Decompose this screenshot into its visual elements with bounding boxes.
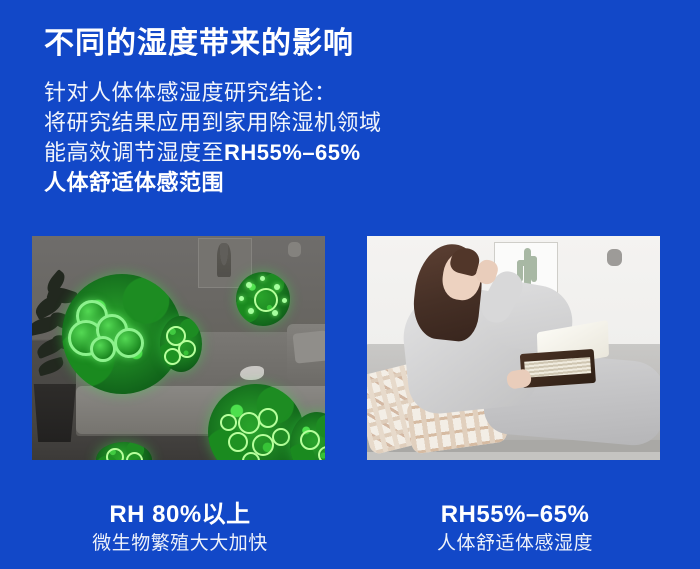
- caption-left: RH 80%以上 微生物繁殖大大加快: [30, 500, 330, 558]
- microbe-dot: [282, 298, 287, 303]
- body-line-3-prefix: 能高效调节湿度至: [44, 140, 224, 165]
- microbe-ring: [318, 446, 325, 460]
- wall-speaker-dark: [288, 242, 301, 257]
- decor-bird: [240, 366, 264, 380]
- comfort-room-photo: [367, 236, 660, 460]
- microbe-dot: [239, 296, 244, 301]
- light-room-floor: [367, 452, 660, 460]
- microbe-dot: [246, 282, 252, 288]
- microbe-ring: [220, 414, 237, 431]
- caption-right-title: RH55%–65%: [365, 500, 665, 530]
- microbe-floating: [236, 272, 290, 326]
- microbe-ring: [300, 430, 320, 450]
- microbe-ring: [258, 408, 278, 428]
- microbe-lobe: [90, 336, 116, 362]
- caption-right-sub: 人体舒适体感湿度: [365, 530, 665, 558]
- microbe-dot: [274, 284, 280, 290]
- sofa-cushion-dark: [293, 330, 325, 363]
- microbe-ring: [164, 348, 181, 365]
- microbe-ring: [106, 448, 124, 460]
- caption-left-title: RH 80%以上: [30, 500, 330, 530]
- microbe-ring: [228, 432, 248, 452]
- body-line-4: 人体舒适体感范围: [44, 168, 464, 198]
- microbe-ring: [254, 288, 278, 312]
- poster-root: 不同的湿度带来的影响 针对人体体感湿度研究结论： 将研究结果应用到家用除湿机领域…: [0, 0, 700, 569]
- microbe-room-photo: [32, 236, 325, 460]
- body-line-3: 能高效调节湿度至RH55%–65%: [44, 138, 464, 168]
- page-title: 不同的湿度带来的影响: [44, 18, 354, 62]
- microbe-ring: [126, 452, 143, 460]
- microbe-small-edge: [160, 316, 202, 372]
- body-line-1: 针对人体体感湿度研究结论：: [44, 78, 464, 108]
- microbe-ring: [272, 428, 290, 446]
- body-line-3-emphasis: RH55%–65%: [224, 140, 361, 165]
- photo-panel-right: [367, 236, 660, 460]
- body-copy: 针对人体体感湿度研究结论： 将研究结果应用到家用除湿机领域 能高效调节湿度至RH…: [44, 78, 464, 198]
- wall-speaker-light: [607, 249, 622, 266]
- body-line-2: 将研究结果应用到家用除湿机领域: [44, 108, 464, 138]
- microbe-dot: [272, 310, 278, 316]
- microbe-dot: [248, 308, 254, 314]
- microbe-ring: [238, 412, 260, 434]
- photo-panel-left: [32, 236, 325, 460]
- microbe-dot: [260, 276, 265, 281]
- microbe-lobe: [114, 328, 144, 358]
- caption-left-sub: 微生物繁殖大大加快: [30, 530, 330, 558]
- plant-pot-dark: [32, 384, 76, 442]
- caption-right: RH55%–65% 人体舒适体感湿度: [365, 500, 665, 558]
